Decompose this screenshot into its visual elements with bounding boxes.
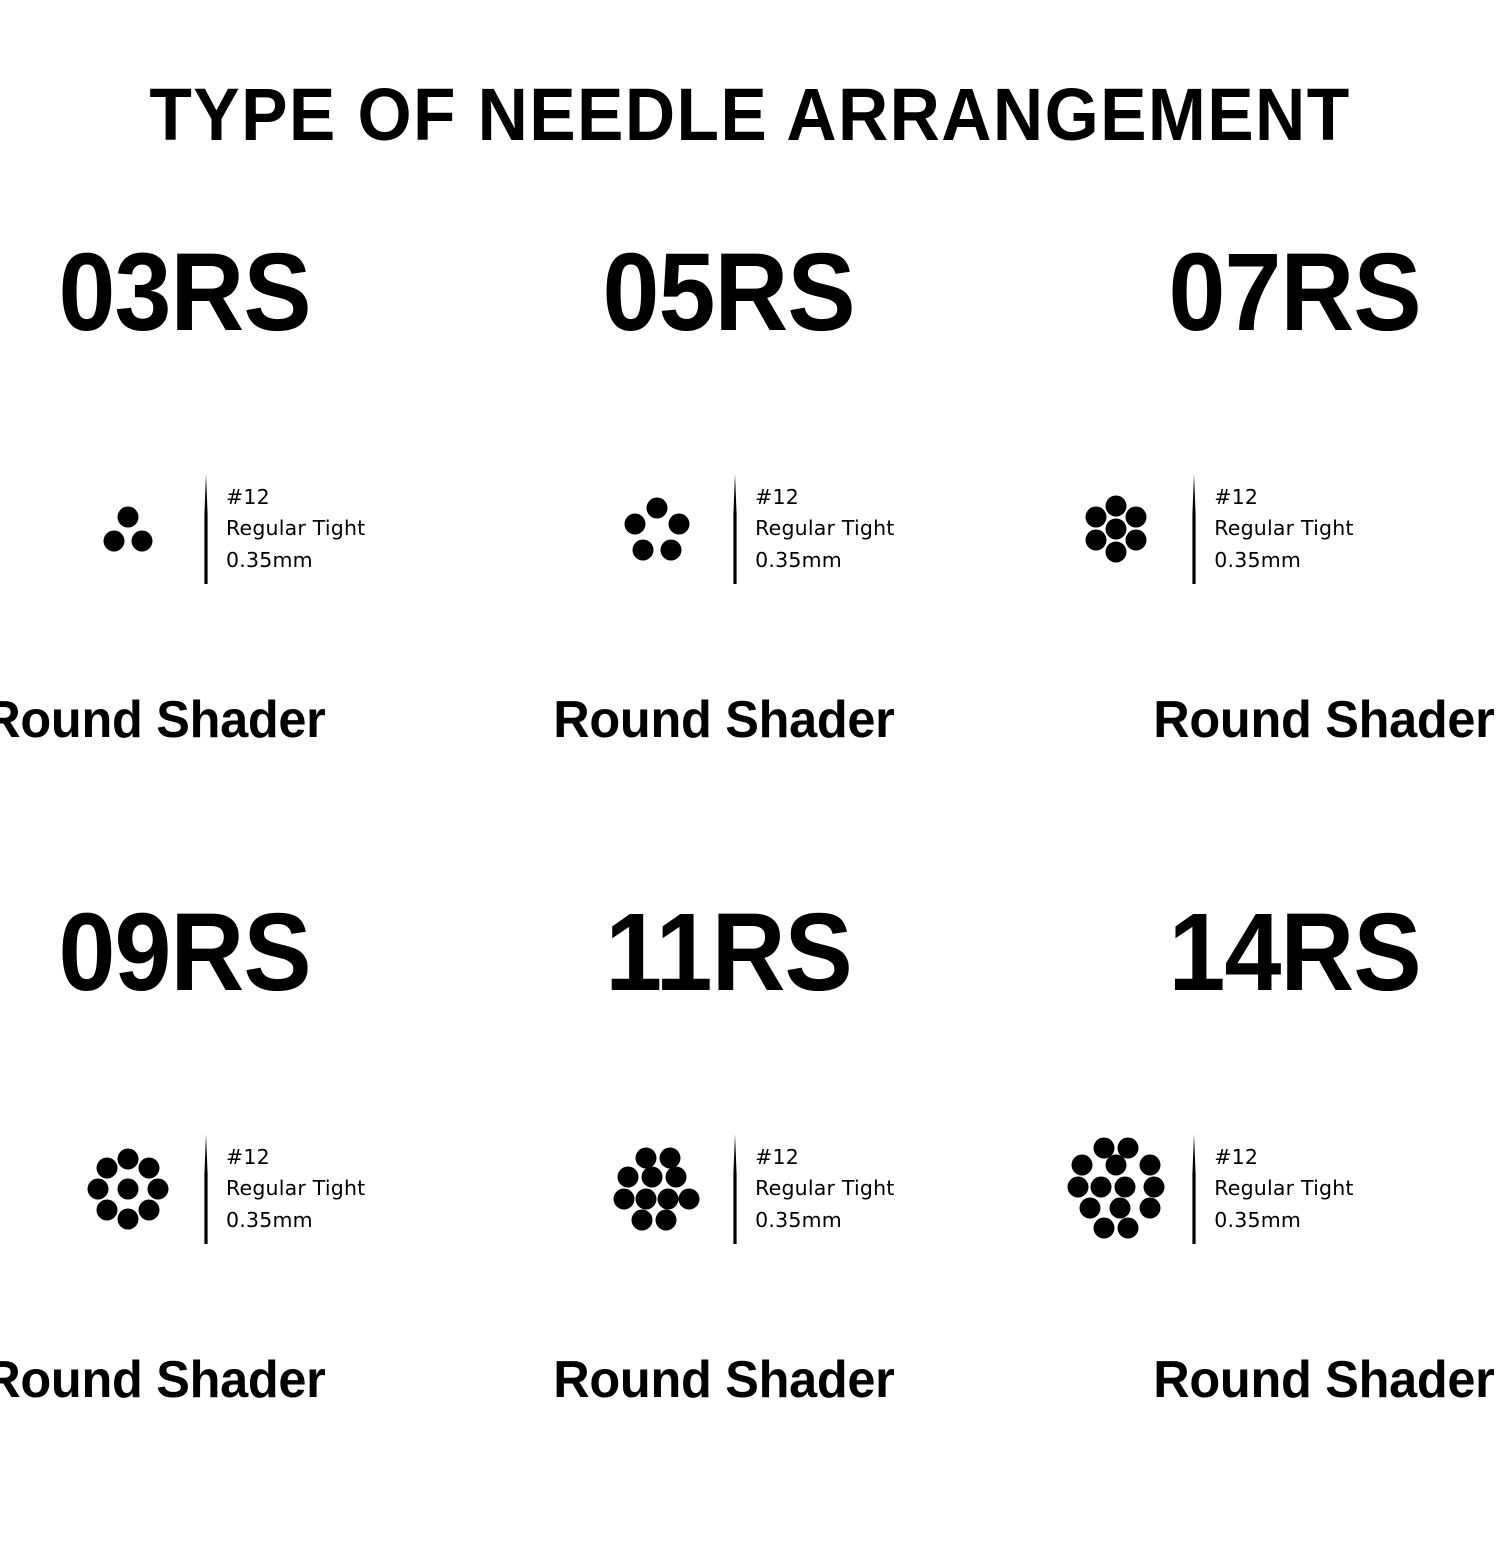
dot-cluster-icon [1048, 492, 1184, 566]
needle-dot [104, 531, 125, 552]
needle-dot [636, 1189, 657, 1210]
needle-spec-block: #12Regular Tight0.35mm [1214, 1142, 1353, 1235]
needle-taper-shape [1193, 1134, 1196, 1244]
needle-card-03rs[interactable]: 03RS#12Regular Tight0.35mmRound Shader [0, 228, 489, 888]
needle-diameter: 0.35mm [226, 1205, 365, 1236]
needle-dot [118, 1149, 139, 1170]
needle-dot [1072, 1155, 1093, 1176]
needle-dot [1094, 1138, 1115, 1159]
needle-dot [118, 1179, 139, 1200]
needle-dot [661, 540, 682, 561]
needle-dot [1115, 1177, 1136, 1198]
needle-dot [660, 1148, 681, 1169]
needle-spec-block: #12Regular Tight0.35mm [1214, 482, 1353, 575]
needle-card-07rs[interactable]: 07RS#12Regular Tight0.35mmRound Shader [978, 228, 1500, 888]
needle-taper-shape [204, 474, 207, 584]
needle-dot [633, 540, 654, 561]
needle-dot [1106, 1155, 1127, 1176]
needle-dot [1118, 1218, 1139, 1239]
needle-dot [632, 1210, 653, 1231]
needle-type-name: Round Shader [1154, 1354, 1495, 1406]
needle-dot [1126, 530, 1147, 551]
needle-detail-row: #12Regular Tight0.35mm [978, 1094, 1500, 1284]
needle-taper-divider-icon [1190, 474, 1198, 584]
needle-type-name: Round Shader [1154, 694, 1495, 746]
needle-dot [1068, 1177, 1089, 1198]
needle-dot [132, 531, 153, 552]
needle-taper-divider-icon [731, 1134, 739, 1244]
needle-taper: Regular Tight [755, 513, 894, 544]
needle-type-name: Round Shader [553, 1354, 894, 1406]
needle-taper-shape [734, 474, 737, 584]
needle-dot [658, 1189, 679, 1210]
needle-dot [669, 514, 690, 535]
needle-detail-row: #12Regular Tight0.35mm [0, 434, 489, 624]
needle-type-name: Round Shader [553, 694, 894, 746]
needle-dot [118, 1209, 139, 1230]
needle-dot [656, 1210, 677, 1231]
needle-taper: Regular Tight [226, 1173, 365, 1204]
needle-taper-shape [1193, 474, 1196, 584]
needle-dot [614, 1189, 635, 1210]
needle-type-name: Round Shader [0, 694, 325, 746]
needle-dot [97, 1158, 118, 1179]
needle-spec-block: #12Regular Tight0.35mm [755, 1142, 894, 1235]
needle-detail-row: #12Regular Tight0.35mm [489, 434, 978, 624]
needle-detail-row: #12Regular Tight0.35mm [978, 434, 1500, 624]
needle-taper: Regular Tight [1214, 513, 1353, 544]
needle-taper-divider-icon [731, 474, 739, 584]
needle-taper: Regular Tight [1214, 1173, 1353, 1204]
needle-dot [1140, 1155, 1161, 1176]
needle-taper-shape [734, 1134, 737, 1244]
needle-dot [1144, 1177, 1165, 1198]
needle-dot [88, 1179, 109, 1200]
needle-code: 03RS [58, 238, 310, 348]
needle-dot [636, 1148, 657, 1169]
needle-card-14rs[interactable]: 14RS#12Regular Tight0.35mmRound Shader [978, 888, 1500, 1548]
dot-cluster-icon [589, 1144, 725, 1234]
needle-dot [1094, 1218, 1115, 1239]
needle-diameter: 0.35mm [755, 1205, 894, 1236]
needle-detail-row: #12Regular Tight0.35mm [0, 1094, 489, 1284]
needle-dot [1091, 1177, 1112, 1198]
needle-dot [679, 1189, 700, 1210]
needle-spec-block: #12Regular Tight0.35mm [755, 482, 894, 575]
needle-dot [1110, 1198, 1131, 1219]
needle-card-05rs[interactable]: 05RS#12Regular Tight0.35mmRound Shader [489, 228, 978, 888]
needle-dot-pattern [610, 1144, 704, 1234]
needle-taper-divider-icon [1190, 1134, 1198, 1244]
needle-dot-pattern [1079, 492, 1153, 566]
needle-spec-block: #12Regular Tight0.35mm [226, 1142, 365, 1235]
needle-taper-divider-icon [202, 474, 210, 584]
needle-card-11rs[interactable]: 11RS#12Regular Tight0.35mmRound Shader [489, 888, 978, 1548]
needle-diameter: 0.35mm [226, 545, 365, 576]
needle-dot [1086, 507, 1107, 528]
needle-dot [642, 1167, 663, 1188]
needle-detail-row: #12Regular Tight0.35mm [489, 1094, 978, 1284]
needle-dot [647, 498, 668, 519]
needle-dot [139, 1158, 160, 1179]
needle-gauge: #12 [1214, 482, 1353, 513]
needle-dot [97, 1200, 118, 1221]
dot-cluster-icon [60, 1144, 196, 1234]
needle-diameter: 0.35mm [755, 545, 894, 576]
dot-cluster-icon [60, 497, 196, 561]
needle-dot [1140, 1198, 1161, 1219]
needle-dot [1106, 542, 1127, 563]
needle-spec-block: #12Regular Tight0.35mm [226, 482, 365, 575]
needle-gauge: #12 [755, 482, 894, 513]
needle-dot-pattern [620, 494, 694, 564]
needle-diameter: 0.35mm [1214, 1205, 1353, 1236]
needle-dot [1080, 1198, 1101, 1219]
needle-diameter: 0.35mm [1214, 545, 1353, 576]
needle-gauge: #12 [226, 1142, 365, 1173]
page-title: TYPE OF NEEDLE ARRANGEMENT [45, 78, 1455, 152]
needle-dot [666, 1167, 687, 1188]
needle-type-name: Round Shader [0, 1354, 325, 1406]
needle-dot [139, 1200, 160, 1221]
needle-code: 14RS [1168, 898, 1420, 1008]
needle-dot [1086, 530, 1107, 551]
needle-gauge: #12 [226, 482, 365, 513]
needle-dot [618, 1167, 639, 1188]
needle-dot [625, 514, 646, 535]
dot-cluster-icon [589, 494, 725, 564]
needle-dot-pattern [1064, 1134, 1168, 1244]
needle-code: 05RS [603, 238, 855, 348]
needle-code: 11RS [605, 898, 852, 1008]
needle-dot [1106, 519, 1127, 540]
needle-taper-divider-icon [202, 1134, 210, 1244]
needle-dot-pattern [94, 497, 162, 561]
needle-dot [118, 507, 139, 528]
needle-taper-shape [204, 1134, 207, 1244]
needle-dot [1118, 1138, 1139, 1159]
needle-taper: Regular Tight [226, 513, 365, 544]
needle-dot [1126, 507, 1147, 528]
needle-taper: Regular Tight [755, 1173, 894, 1204]
needle-gauge: #12 [755, 1142, 894, 1173]
dot-cluster-icon [1048, 1134, 1184, 1244]
needle-dot-pattern [83, 1144, 173, 1234]
needle-dot [1106, 496, 1127, 517]
needle-dot [148, 1179, 169, 1200]
needle-code: 07RS [1168, 238, 1420, 348]
needle-gauge: #12 [1214, 1142, 1353, 1173]
needle-card-09rs[interactable]: 09RS#12Regular Tight0.35mmRound Shader [0, 888, 489, 1548]
needle-code: 09RS [58, 898, 310, 1008]
needle-grid: 03RS#12Regular Tight0.35mmRound Shader05… [0, 228, 1500, 1548]
